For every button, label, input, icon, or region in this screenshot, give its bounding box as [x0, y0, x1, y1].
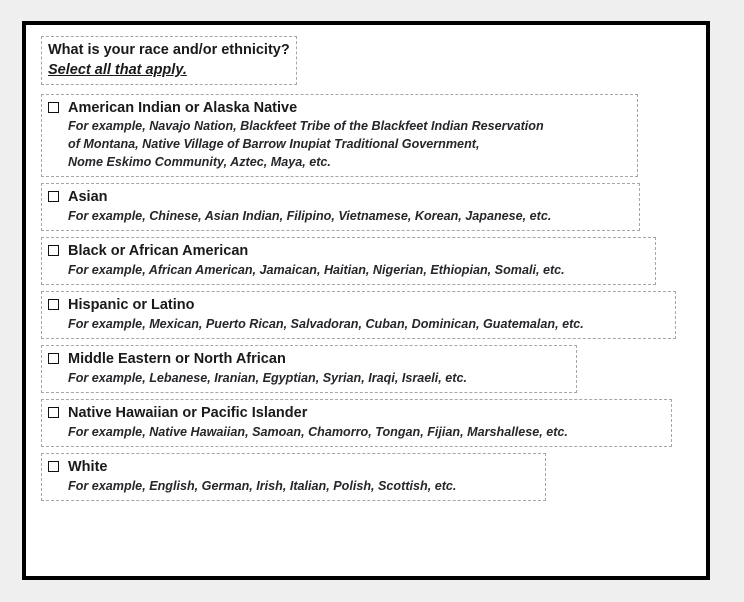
option-row[interactable]: Native Hawaiian or Pacific Islander — [48, 404, 663, 422]
option-black-or-african-american[interactable]: Black or African AmericanFor example, Af… — [41, 237, 656, 285]
race-ethnicity-options: American Indian or Alaska NativeFor exam… — [41, 94, 696, 508]
checkbox-native-hawaiian-or-pacific-islander[interactable] — [48, 407, 59, 418]
option-example-line: For example, Lebanese, Iranian, Egyptian… — [68, 370, 568, 388]
option-example-line: For example, Chinese, Asian Indian, Fili… — [68, 208, 631, 226]
option-row[interactable]: Black or African American — [48, 242, 647, 260]
option-example-line: For example, Mexican, Puerto Rican, Salv… — [68, 316, 667, 334]
checkbox-american-indian-or-alaska-native[interactable] — [48, 102, 59, 113]
option-example-text: For example, Mexican, Puerto Rican, Salv… — [68, 316, 667, 334]
option-hispanic-or-latino[interactable]: Hispanic or LatinoFor example, Mexican, … — [41, 291, 676, 339]
checkbox-hispanic-or-latino[interactable] — [48, 299, 59, 310]
checkbox-asian[interactable] — [48, 191, 59, 202]
race-ethnicity-form-frame: What is your race and/or ethnicity? Sele… — [22, 21, 710, 580]
option-row[interactable]: Middle Eastern or North African — [48, 350, 568, 368]
option-label: White — [68, 458, 107, 476]
option-example-line: For example, English, German, Irish, Ita… — [68, 478, 537, 496]
option-white[interactable]: WhiteFor example, English, German, Irish… — [41, 453, 546, 501]
option-example-line: For example, Native Hawaiian, Samoan, Ch… — [68, 424, 663, 442]
option-middle-eastern-or-north-african[interactable]: Middle Eastern or North AfricanFor examp… — [41, 345, 577, 393]
option-asian[interactable]: AsianFor example, Chinese, Asian Indian,… — [41, 183, 640, 231]
option-row[interactable]: American Indian or Alaska Native — [48, 99, 629, 117]
option-example-text: For example, African American, Jamaican,… — [68, 262, 647, 280]
question-instruction: Select all that apply. — [48, 61, 290, 80]
checkbox-middle-eastern-or-north-african[interactable] — [48, 353, 59, 364]
option-example-line: For example, Navajo Nation, Blackfeet Tr… — [68, 118, 629, 136]
option-label: Hispanic or Latino — [68, 296, 195, 314]
checkbox-black-or-african-american[interactable] — [48, 245, 59, 256]
option-label: Middle Eastern or North African — [68, 350, 286, 368]
option-label: Asian — [68, 188, 108, 206]
option-native-hawaiian-or-pacific-islander[interactable]: Native Hawaiian or Pacific IslanderFor e… — [41, 399, 672, 447]
option-row[interactable]: White — [48, 458, 537, 476]
form-content: What is your race and/or ethnicity? Sele… — [41, 36, 696, 507]
option-label: American Indian or Alaska Native — [68, 99, 297, 117]
option-american-indian-or-alaska-native[interactable]: American Indian or Alaska NativeFor exam… — [41, 94, 638, 178]
checkbox-white[interactable] — [48, 461, 59, 472]
option-example-text: For example, Navajo Nation, Blackfeet Tr… — [68, 118, 629, 172]
option-label: Black or African American — [68, 242, 248, 260]
option-example-text: For example, Chinese, Asian Indian, Fili… — [68, 208, 631, 226]
option-example-text: For example, English, German, Irish, Ita… — [68, 478, 537, 496]
option-example-line: Nome Eskimo Community, Aztec, Maya, etc. — [68, 154, 629, 172]
option-label: Native Hawaiian or Pacific Islander — [68, 404, 307, 422]
option-example-text: For example, Native Hawaiian, Samoan, Ch… — [68, 424, 663, 442]
question-header: What is your race and/or ethnicity? Sele… — [41, 36, 297, 85]
option-row[interactable]: Asian — [48, 188, 631, 206]
option-example-line: For example, African American, Jamaican,… — [68, 262, 647, 280]
option-row[interactable]: Hispanic or Latino — [48, 296, 667, 314]
page-title: What is your race and/or ethnicity? — [48, 41, 290, 60]
option-example-line: of Montana, Native Village of Barrow Inu… — [68, 136, 629, 154]
option-example-text: For example, Lebanese, Iranian, Egyptian… — [68, 370, 568, 388]
